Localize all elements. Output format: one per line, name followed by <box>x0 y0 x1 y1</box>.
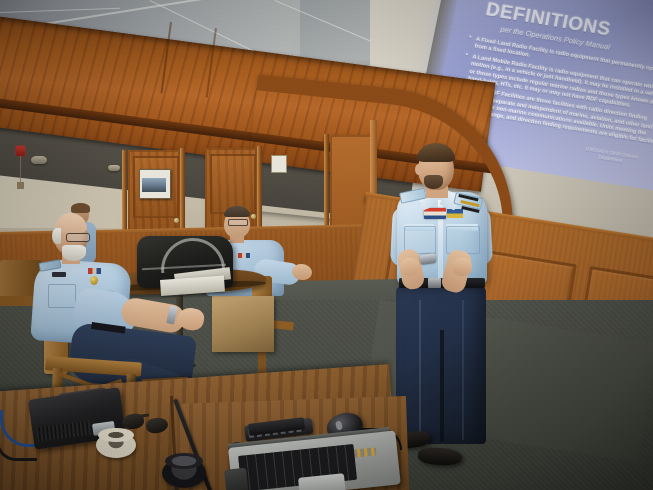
name-tag <box>52 272 66 277</box>
trouser-leg-split <box>440 330 444 442</box>
presenter-left-hand <box>400 258 420 276</box>
ribbon-rack <box>88 268 101 274</box>
belt-buckle <box>428 278 441 288</box>
power-cable <box>0 432 37 461</box>
alarm-junction-box <box>17 182 24 189</box>
insignia-badge <box>90 276 98 285</box>
eyeglasses-icon <box>66 233 90 242</box>
background-person-hair <box>71 203 90 213</box>
cardboard-box <box>212 296 274 352</box>
picture-image <box>142 178 166 192</box>
shirt-pocket <box>48 284 76 308</box>
door-panel <box>210 154 256 214</box>
shirt-pocket <box>446 226 480 254</box>
trouser-crease <box>419 300 421 440</box>
wall-sconce <box>31 156 47 164</box>
fire-alarm-strobe-icon <box>16 146 25 156</box>
presenter-goatee <box>424 175 443 189</box>
photograph-scene: DEFINITIONS per the Operations Policy Ma… <box>0 0 653 490</box>
ribbon-rack <box>424 208 446 219</box>
trouser-crease <box>462 300 464 440</box>
camera-lens-cap-top <box>165 453 203 469</box>
presenter-ear <box>415 164 422 175</box>
wall-notice-sign <box>271 155 287 173</box>
alarm-conduit <box>20 156 21 182</box>
masking-tape-core <box>98 428 134 442</box>
ribbon-rack <box>238 253 250 258</box>
seated-officer-left-hair <box>52 228 61 244</box>
laptop-lid-edge <box>224 468 249 490</box>
door-knob[interactable] <box>174 218 179 223</box>
ribbon-rack <box>447 209 463 218</box>
presenter-right-hand <box>452 258 472 276</box>
eyeglasses-icon <box>228 219 248 226</box>
wall-sconce <box>108 165 120 171</box>
door-knob[interactable] <box>251 214 256 219</box>
